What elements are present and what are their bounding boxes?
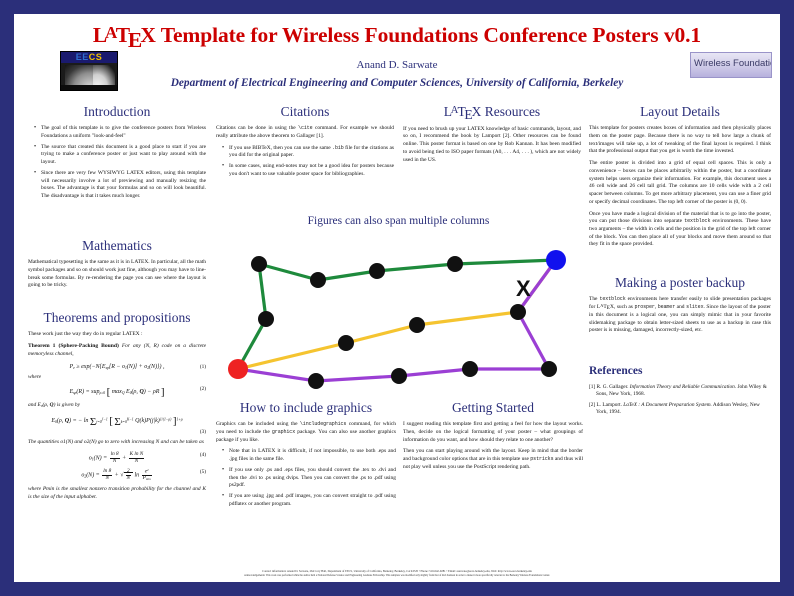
graph-node: [338, 335, 354, 351]
graph-edge: [318, 271, 377, 280]
section-heading-include-graphics: How to include graphics: [216, 400, 396, 416]
graph-edge: [417, 312, 518, 325]
poster-page: LATEX Template for Wireless Foundations …: [0, 0, 794, 596]
equation-5: o2(N) = ln 8N + √2N ln e2Pmin (5): [28, 469, 206, 482]
section-include-graphics: How to include graphics Graphics can be …: [216, 400, 396, 513]
graph-edge: [377, 264, 455, 271]
list-item: The source that created this document is…: [36, 144, 206, 167]
poster-backup-paragraph: The textblock environments here transfer…: [589, 296, 771, 335]
equation-3-number: (3): [28, 429, 206, 435]
code-cite: \cite: [298, 125, 313, 131]
section-theorems: Theorems and propositions These work jus…: [28, 310, 206, 505]
border-right: [780, 0, 794, 596]
graph-node: [228, 359, 248, 379]
poster-footer: Contact information: Anand D. Sarwate, 2…: [18, 569, 776, 578]
code-beamer: beamer: [658, 304, 675, 310]
network-graph-figure: X: [216, 233, 581, 393]
graph-node: [308, 373, 324, 389]
eecs-logo-base: [61, 85, 117, 90]
theorems-quantities: The quantities o1(N) and o2(N) go to zer…: [28, 439, 206, 447]
graph-node: [391, 368, 407, 384]
graph-node: [310, 272, 326, 288]
equation-2: Esp(R) = supρ≥0 [ maxQ E0(ρ, Q) − ρR ] (…: [28, 386, 206, 398]
equation-4-number: (4): [200, 452, 206, 458]
poster-header: LATEX Template for Wireless Foundations …: [18, 18, 776, 90]
footer-acknowledgements-line: Acknowledgements: This work was performe…: [18, 574, 776, 578]
eecs-logo-cs: CS: [89, 52, 103, 62]
section-heading-layout-details: Layout Details: [589, 104, 771, 120]
list-item: If you use only .ps and .eps files, you …: [224, 467, 396, 490]
graph-node: [510, 304, 526, 320]
list-item: Note that in LATEX it is difficult, if n…: [224, 448, 396, 463]
graph-edge: [518, 312, 549, 369]
code-prosper: prosper: [634, 304, 654, 310]
list-item: Since there are very few WYSIWYG LATEX e…: [36, 170, 206, 201]
graph-edge: [316, 376, 399, 381]
figure-block: Figures can also span multiple columns X: [216, 215, 581, 393]
graph-node: [369, 263, 385, 279]
eecs-logo-dome: [65, 65, 115, 87]
figure-caption: Figures can also span multiple columns: [216, 215, 581, 227]
reference-item-1: [1] R. G. Gallager. Information Theory a…: [589, 384, 771, 399]
column-latex-resources: LATEX Resources If you need to brush up …: [403, 104, 581, 168]
graph-node: [258, 311, 274, 327]
equation-1: Pe ≥ exp(−N{Esp[R − o1(N)] + o2(N)}) , (…: [28, 364, 206, 370]
reference-2-title: LaTeX : A Document Preparation System.: [623, 402, 712, 408]
layout-details-paragraph-1: This template for posters creates boxes …: [589, 125, 771, 156]
code-bib-ext: .bib: [332, 145, 344, 151]
list-item: In some cases, using end-notes may not b…: [224, 163, 394, 178]
equation-5-number: (5): [200, 469, 206, 475]
theorems-final-text: where Pmin is the smallest nonzero trans…: [28, 486, 206, 501]
border-left: [0, 0, 14, 596]
graph-edge: [455, 260, 556, 264]
reference-1-number: [1]: [589, 384, 595, 390]
graph-edge: [238, 369, 316, 381]
graph-edge: [346, 325, 417, 343]
section-heading-theorems: Theorems and propositions: [28, 310, 206, 326]
eecs-logo-text: EECS: [61, 52, 117, 63]
citations-paragraph: Citations can be done in using the \cite…: [216, 125, 394, 140]
eecs-logo-icon: EECS: [60, 51, 118, 91]
theorem-label: Theorem 1 (Sphere-Packing Bound): [28, 343, 119, 349]
reference-1-title: Information Theory and Reliable Communic…: [630, 384, 736, 390]
code-slitex: slitex: [686, 304, 703, 310]
reference-1-author: R. G. Gallager.: [597, 384, 629, 390]
code-includegraphics: \includegraphics: [300, 421, 346, 427]
section-heading-latex-resources: LATEX Resources: [403, 104, 581, 121]
graph-edges: [238, 260, 556, 381]
page-title: LATEX Template for Wireless Foundations …: [18, 24, 776, 48]
graph-edge: [399, 369, 470, 376]
section-heading-mathematics: Mathematics: [28, 238, 206, 254]
graph-node: [251, 256, 267, 272]
theorem-statement: Theorem 1 (Sphere-Packing Bound) For any…: [28, 343, 206, 359]
layout-details-paragraph-3: Once you have made a logical division of…: [589, 211, 771, 250]
graph-node: [546, 250, 566, 270]
include-graphics-paragraph: Graphics can be included using the \incl…: [216, 421, 396, 444]
reference-2-author: L. Lamport.: [597, 402, 622, 408]
section-heading-introduction: Introduction: [28, 104, 206, 120]
equation-2-number: (2): [200, 386, 206, 392]
border-bottom: [0, 582, 794, 596]
graph-node: [541, 361, 557, 377]
introduction-bullet-list: The goal of this template is to give the…: [28, 125, 206, 201]
author-name: Anand D. Sarwate: [18, 59, 776, 71]
reference-2-number: [2]: [589, 402, 595, 408]
theorems-intro: These work just the way they do in regul…: [28, 331, 206, 339]
graph-node: [409, 317, 425, 333]
graph-node: [447, 256, 463, 272]
reference-item-2: [2] L. Lamport. LaTeX : A Document Prepa…: [589, 402, 771, 417]
graph-node: [462, 361, 478, 377]
section-mathematics: Mathematics Mathematical typesetting is …: [28, 238, 206, 294]
citations-bullet-list: If you use BIBTeX, then you can use the …: [216, 145, 394, 179]
layout-details-paragraph-2: The entire poster is divided into a grid…: [589, 160, 771, 206]
latex-resources-paragraph: If you need to brush up your LATEX knowl…: [403, 126, 581, 165]
list-item: The goal of this template is to give the…: [36, 125, 206, 140]
list-item: If you use BIBTeX, then you can use the …: [224, 145, 394, 160]
page-title-rest: Template for Wireless Foundations Confer…: [156, 23, 701, 47]
graph-edge: [238, 343, 346, 369]
graph-edge: [259, 264, 266, 319]
column-layout-details: Layout Details This template for posters…: [589, 104, 771, 419]
column-citations: Citations Citations can be done in using…: [216, 104, 394, 183]
section-heading-poster-backup: Making a poster backup: [589, 275, 771, 291]
eecs-logo-ee: EE: [76, 52, 89, 62]
code-textblock: textblock: [684, 218, 710, 224]
wireless-foundations-logo-icon: Wireless Foundations: [690, 52, 772, 78]
column-introduction: Introduction The goal of this template i…: [28, 104, 206, 205]
code-graphicx: graphicx: [272, 429, 295, 435]
section-heading-references: References: [589, 365, 771, 379]
equation-3: E0(ρ, Q) = − ln Σj=0J−1 [ Σk=0K−1 Q(k)P(…: [28, 415, 206, 435]
theorems-where-1: where: [28, 374, 206, 382]
wireless-foundations-logo-text: Wireless Foundations: [694, 58, 772, 69]
section-heading-getting-started: Getting Started: [403, 400, 583, 416]
graph-edge: [259, 264, 318, 280]
affiliation: Department of Electrical Engineering and…: [18, 77, 776, 89]
list-item: If you are using .jpg and .pdf images, y…: [224, 493, 396, 508]
section-heading-citations: Citations: [216, 104, 394, 120]
theorems-and-text: and E0(ρ, Q) is given by: [28, 402, 206, 410]
include-graphics-bullet-list: Note that in LATEX it is difficult, if n…: [216, 448, 396, 508]
getting-started-paragraph-1: I suggest reading this template first an…: [403, 421, 583, 444]
border-top: [0, 0, 794, 14]
getting-started-paragraph-2: Then you can start playing around with t…: [403, 448, 583, 471]
section-getting-started: Getting Started I suggest reading this t…: [403, 400, 583, 476]
equation-1-number: (1): [200, 364, 206, 370]
code-pstricks: pstricks: [530, 456, 553, 462]
mathematics-paragraph: Mathematical typesetting is the same as …: [28, 259, 206, 290]
equation-4: o1(N) = ln 8N + K ln NN (4): [28, 452, 206, 464]
x-marker-label: X: [516, 276, 531, 301]
code-textblock-2: textblock: [599, 296, 625, 302]
